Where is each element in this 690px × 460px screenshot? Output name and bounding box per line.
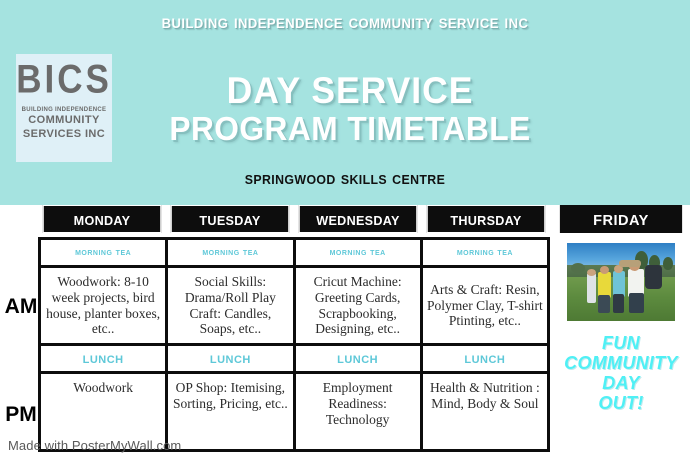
community-day-photo (567, 243, 675, 321)
morning-tea-wednesday: MORNING TEA (296, 240, 423, 265)
pm-cell-thursday: Health & Nutrition : Mind, Body & Soul (423, 374, 547, 449)
logo-tagline-line2: COMMUNITY (28, 114, 99, 128)
row-lunch: LUNCH LUNCH LUNCH LUNCH (41, 346, 547, 371)
day-header-monday: Monday (43, 205, 161, 233)
lunch-monday: LUNCH (41, 346, 168, 371)
logo-tagline-line3: SERVICES INC (23, 128, 105, 142)
timetable-area: AM PM Monday Tuesday Wednesday Thursday … (0, 205, 690, 460)
friday-caption: FUN COMMUNITY DAY OUT! (556, 333, 686, 414)
lunch-thursday: LUNCH (423, 346, 547, 371)
day-header-friday: Friday (560, 205, 682, 233)
friday-column: Friday FUN COMMUNITY DAY OUT! (556, 205, 686, 460)
title-line-program-timetable: PROGRAM TIMETABLE (129, 112, 571, 147)
day-header-wednesday: Wednesday (299, 205, 417, 233)
organisation-title: Building Independence Community Service … (24, 11, 666, 34)
row-am-activities: Woodwork: 8-10 week projects, bird house… (41, 268, 547, 343)
lunch-wednesday: LUNCH (296, 346, 423, 371)
poster-header-band: Building Independence Community Service … (0, 0, 690, 205)
day-header-tuesday: Tuesday (171, 205, 289, 233)
bics-logo: BICS BUILDING INDEPENDENCE COMMUNITY SER… (16, 54, 112, 162)
venue-subtitle: Springwood Skills Centre (17, 168, 673, 189)
period-label-column: AM PM (0, 205, 38, 460)
morning-tea-monday: MORNING TEA (41, 240, 168, 265)
postermywall-watermark: Made with PosterMyWall.com (8, 438, 181, 453)
logo-tagline-line1: BUILDING INDEPENDENCE (22, 107, 107, 114)
day-header-row: Monday Tuesday Wednesday Thursday (38, 205, 550, 233)
title-line-day-service: DAY SERVICE (129, 72, 571, 110)
pm-cell-wednesday: Employment Readiness: Technology (296, 374, 423, 449)
day-header-thursday: Thursday (427, 205, 545, 233)
poster-title: DAY SERVICE PROGRAM TIMETABLE (120, 72, 580, 146)
row-morning-tea: MORNING TEA MORNING TEA MORNING TEA MORN… (41, 240, 547, 265)
am-cell-thursday: Arts & Craft: Resin, Polymer Clay, T-shi… (423, 268, 547, 343)
am-cell-wednesday: Cricut Machine: Greeting Cards, Scrapboo… (296, 268, 423, 343)
weekday-grid: Monday Tuesday Wednesday Thursday MORNIN… (38, 205, 550, 455)
am-cell-tuesday: Social Skills: Drama/Roll Play Craft: Ca… (168, 268, 295, 343)
lunch-tuesday: LUNCH (168, 346, 295, 371)
timetable-table: MORNING TEA MORNING TEA MORNING TEA MORN… (38, 237, 550, 452)
morning-tea-thursday: MORNING TEA (423, 240, 547, 265)
am-cell-monday: Woodwork: 8-10 week projects, bird house… (41, 268, 168, 343)
period-label-am: AM (4, 295, 38, 319)
pm-cell-tuesday: OP Shop: Itemising, Sorting, Pricing, et… (168, 374, 295, 449)
logo-wordmark: BICS (16, 59, 112, 99)
period-label-pm: PM (4, 403, 38, 427)
morning-tea-tuesday: MORNING TEA (168, 240, 295, 265)
